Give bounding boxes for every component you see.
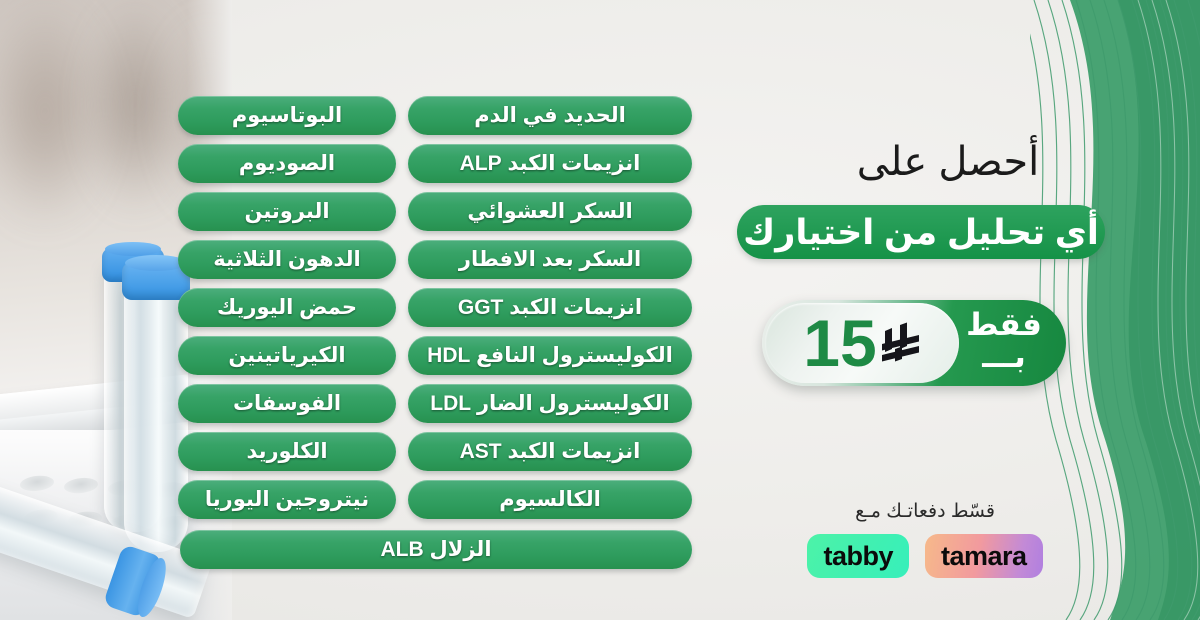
test-pill[interactable]: الصوديوم	[178, 144, 396, 183]
test-pill-label: الكلوريد	[246, 441, 327, 462]
saudi-riyal-glyph	[881, 322, 921, 368]
test-pill-label: السكر العشوائي	[467, 201, 632, 222]
test-pill-label: الكيرياتينين	[228, 345, 345, 366]
test-pill[interactable]: السكر العشوائي	[408, 192, 692, 231]
test-pill[interactable]: الكوليسترول النافع HDL	[408, 336, 692, 375]
tests-right-column: الحديد في الدم انزيمات الكبد ALP السكر ا…	[408, 96, 692, 528]
test-pill-label: الدهون الثلاثية	[213, 249, 361, 270]
tamara-logo-label: tamara	[941, 543, 1027, 570]
test-pill-label: الفوسفات	[233, 393, 341, 414]
tamara-logo[interactable]: tamara	[925, 534, 1043, 578]
test-pill-label: الكالسيوم	[499, 489, 601, 510]
price-value-capsule: 15	[765, 303, 959, 383]
test-pill[interactable]: الحديد في الدم	[408, 96, 692, 135]
price-label: فقط بـــ	[958, 309, 1050, 372]
test-pill-label: الزلال ALB	[381, 539, 492, 560]
test-pill[interactable]: الكوليسترول الضار LDL	[408, 384, 692, 423]
tests-wide-row: الزلال ALB	[180, 530, 692, 569]
test-pill[interactable]: السكر بعد الافطار	[408, 240, 692, 279]
test-pill[interactable]: الكالسيوم	[408, 480, 692, 519]
test-pill-label: السكر بعد الافطار	[459, 249, 641, 270]
bnpl-section: قسّط دفعاتـك مـع tamara tabby	[775, 500, 1075, 578]
test-pill[interactable]: انزيمات الكبد AST	[408, 432, 692, 471]
tests-left-column: البوتاسيوم الصوديوم البروتين الدهون الثل…	[178, 96, 396, 528]
price-label-only: فقط	[958, 309, 1050, 341]
test-pill-wide[interactable]: الزلال ALB	[180, 530, 692, 569]
test-pill-label: الكوليسترول الضار LDL	[430, 393, 669, 414]
test-pill-label: الصوديوم	[239, 153, 335, 174]
test-pill[interactable]: الكيرياتينين	[178, 336, 396, 375]
price-label-for: بـــ	[958, 341, 1050, 373]
promo-headline: أحصل على	[793, 140, 1103, 184]
test-pill[interactable]: الدهون الثلاثية	[178, 240, 396, 279]
test-pill[interactable]: حمض اليوريك	[178, 288, 396, 327]
test-pill-label: انزيمات الكبد ALP	[460, 153, 641, 174]
test-pill[interactable]: الكلوريد	[178, 432, 396, 471]
test-pill[interactable]: الفوسفات	[178, 384, 396, 423]
test-pill[interactable]: البروتين	[178, 192, 396, 231]
bnpl-note: قسّط دفعاتـك مـع	[775, 500, 1075, 523]
price-badge: 15 فقط بـــ	[762, 300, 1066, 386]
promo-highlight-pill: أي تحليل من اختيارك	[737, 205, 1105, 259]
test-pill[interactable]: انزيمات الكبد GGT	[408, 288, 692, 327]
test-pill[interactable]: نيتروجين اليوريا	[178, 480, 396, 519]
promo-highlight-label: أي تحليل من اختيارك	[743, 215, 1099, 250]
test-pill-label: البروتين	[244, 201, 329, 222]
tabby-logo[interactable]: tabby	[807, 534, 909, 578]
tabby-logo-label: tabby	[823, 543, 893, 570]
test-pill-label: البوتاسيوم	[232, 105, 342, 126]
test-pill[interactable]: انزيمات الكبد ALP	[408, 144, 692, 183]
price-number: 15	[803, 315, 876, 371]
test-pill-label: انزيمات الكبد AST	[460, 441, 641, 462]
test-pill[interactable]: البوتاسيوم	[178, 96, 396, 135]
test-pill-label: الكوليسترول النافع HDL	[427, 345, 673, 366]
bnpl-logos: tamara tabby	[775, 534, 1075, 578]
test-pill-label: الحديد في الدم	[474, 105, 626, 126]
test-pill-label: حمض اليوريك	[217, 297, 357, 318]
promo-banner: الحديد في الدم انزيمات الكبد ALP السكر ا…	[0, 0, 1200, 620]
test-pill-label: نيتروجين اليوريا	[205, 489, 369, 510]
saudi-riyal-icon	[881, 322, 921, 368]
test-pill-label: انزيمات الكبد GGT	[458, 297, 642, 318]
